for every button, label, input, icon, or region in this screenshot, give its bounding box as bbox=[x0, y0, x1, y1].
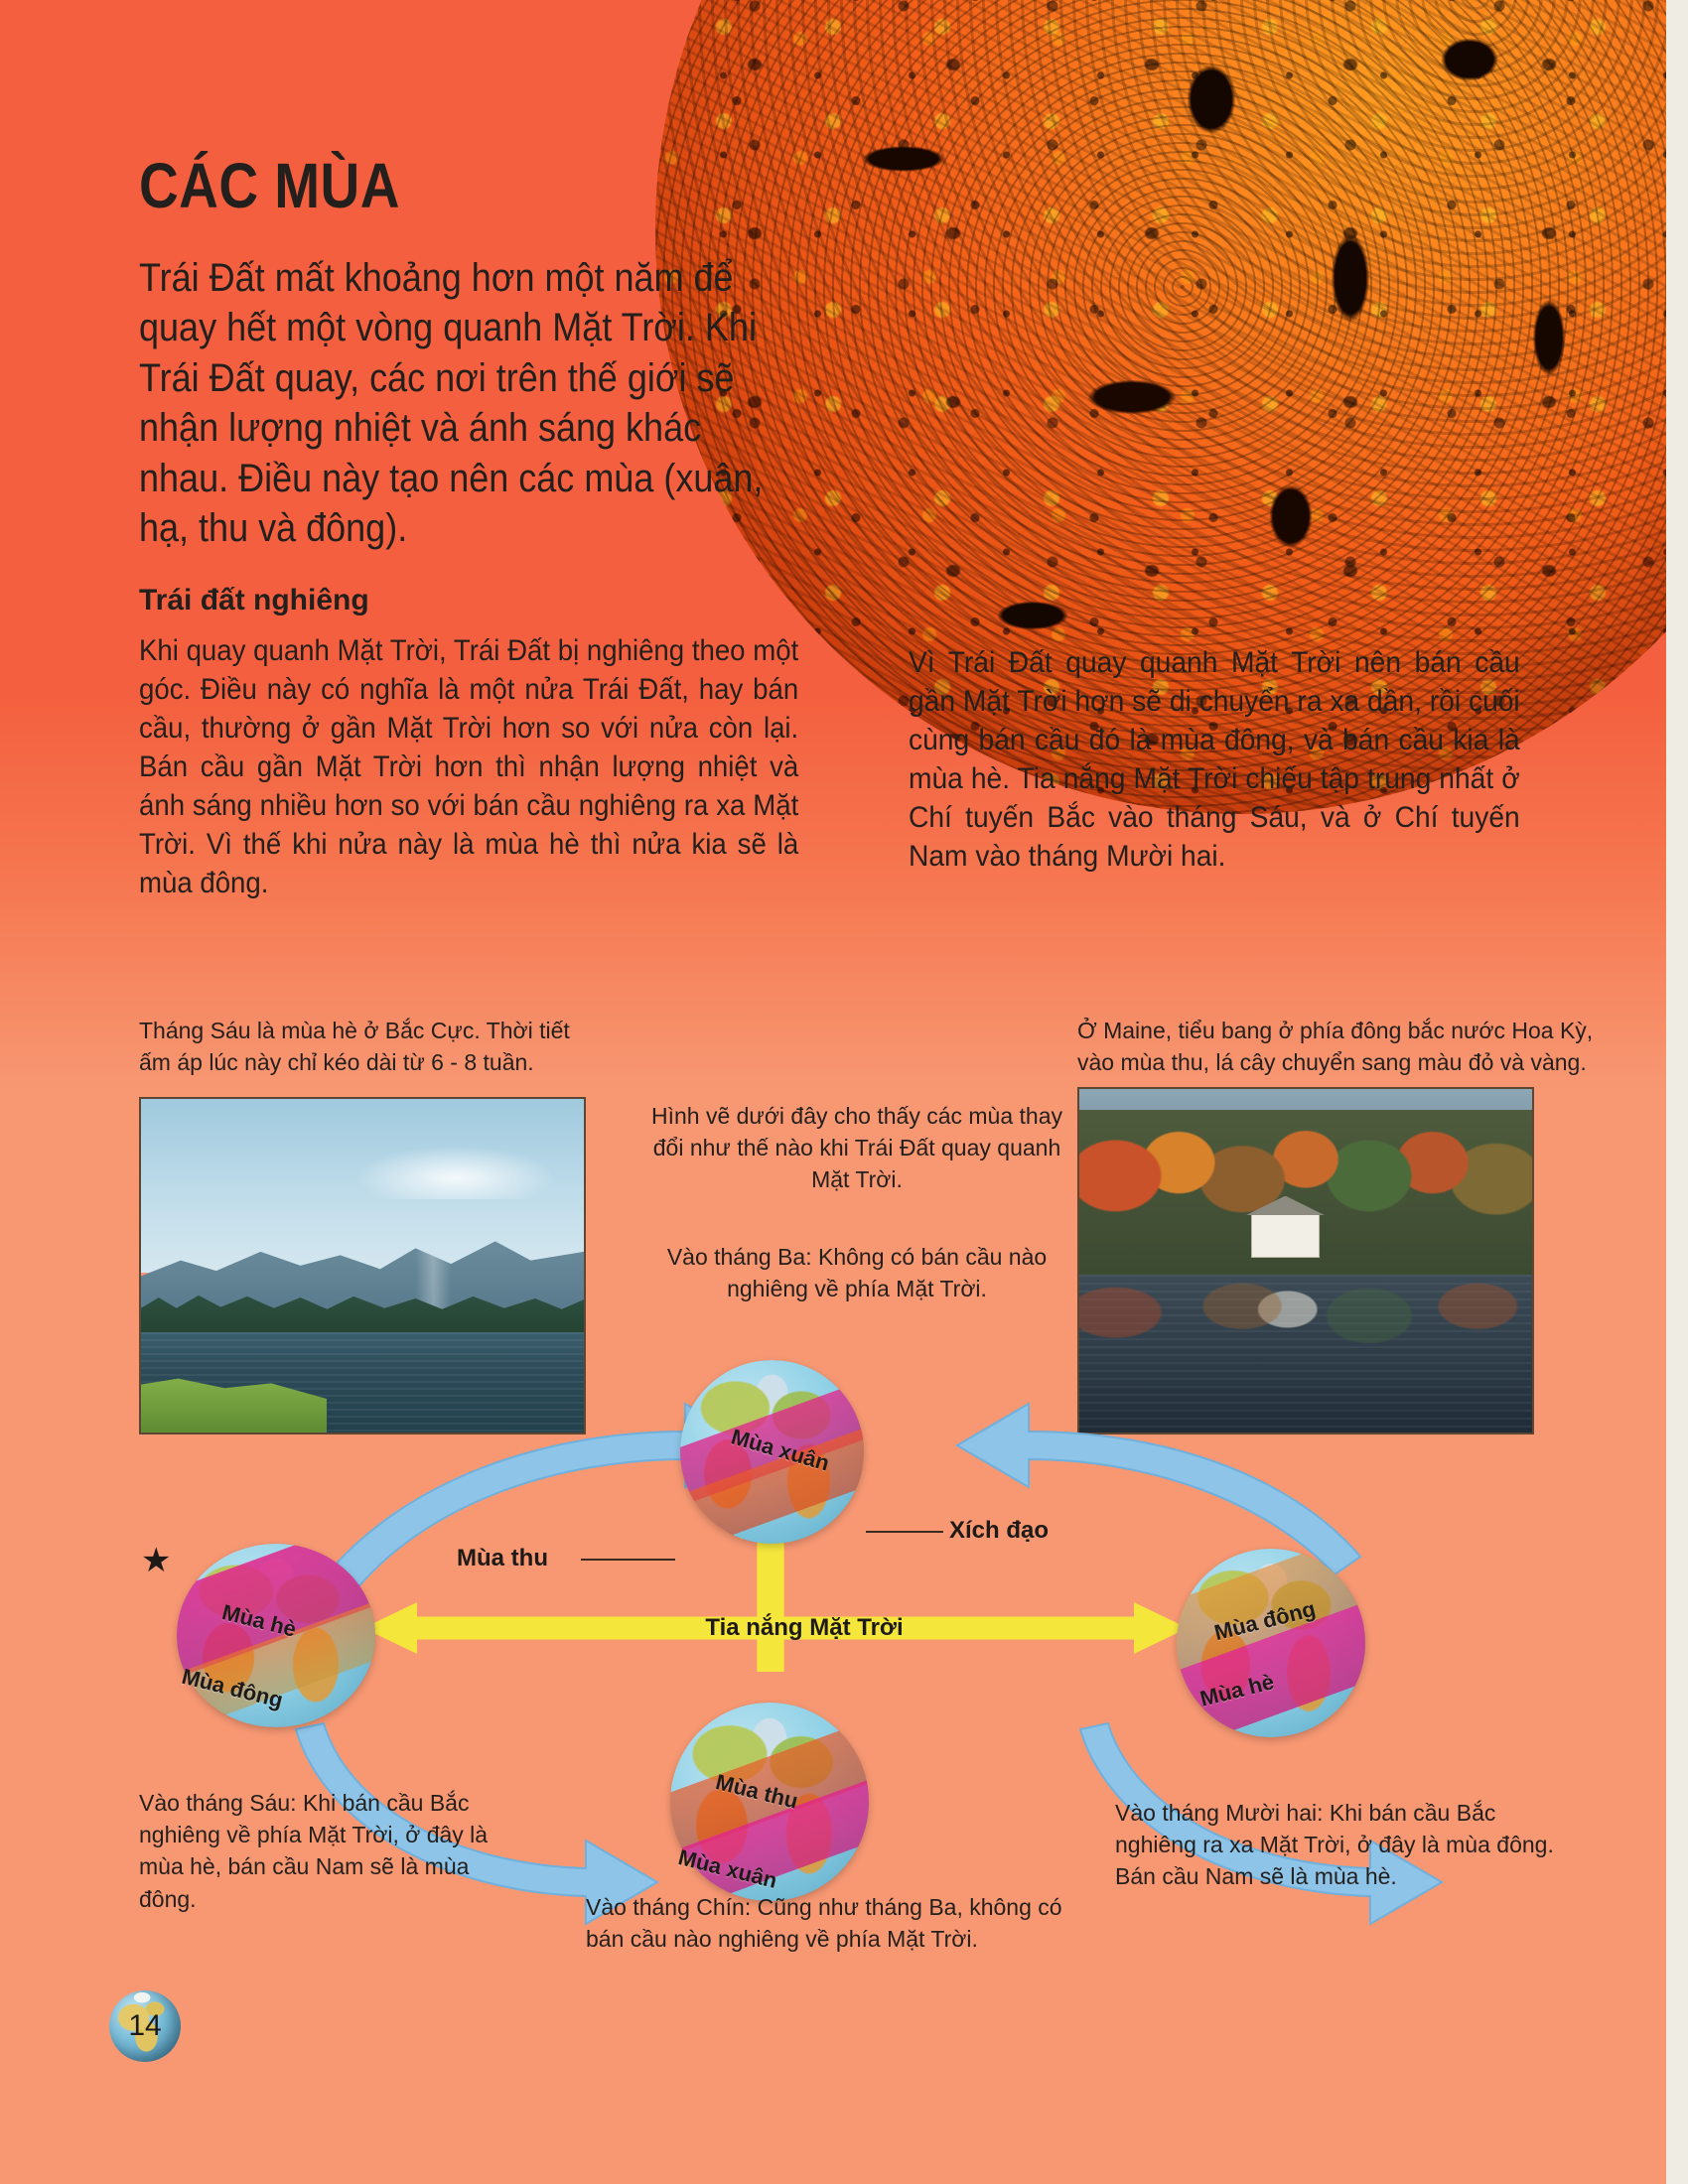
page-right-margin bbox=[1666, 0, 1688, 2184]
star-icon: ★ bbox=[141, 1544, 171, 1577]
photo-cloud bbox=[353, 1146, 557, 1199]
autumn-leader-label: Mùa thu bbox=[457, 1545, 548, 1572]
body-column-left: Khi quay quanh Mặt Trời, Trái Đất bị ngh… bbox=[139, 631, 798, 902]
autumn-leader-line bbox=[581, 1559, 675, 1561]
caption-september: Vào tháng Chín: Cũng như tháng Ba, không… bbox=[586, 1891, 1062, 1955]
caption-june: Vào tháng Sáu: Khi bán cầu Bắc nghiêng v… bbox=[139, 1787, 496, 1915]
equator-leader-line bbox=[866, 1531, 943, 1533]
page-title: CÁC MÙA bbox=[139, 149, 400, 222]
intro-paragraph: Trái Đất mất khoảng hơn một năm để quay … bbox=[139, 253, 782, 553]
page-number: 14 bbox=[128, 2009, 161, 2043]
caption-arctic-photo: Tháng Sáu là mùa hè ở Bắc Cực. Thời tiết… bbox=[139, 1015, 606, 1078]
caption-december: Vào tháng Mười hai: Khi bán cầu Bắc nghi… bbox=[1115, 1797, 1572, 1893]
caption-maine-photo: Ở Maine, tiểu bang ở phía đông bắc nước … bbox=[1077, 1015, 1594, 1078]
caption-diagram-intro: Hình vẽ dưới đây cho thấy các mùa thay đ… bbox=[643, 1100, 1070, 1196]
body-column-right: Vì Trái Đất quay quanh Mặt Trời nên bán … bbox=[909, 643, 1520, 876]
section-heading: Trái đất nghiêng bbox=[139, 584, 369, 617]
sun-ray-label: Tia nắng Mặt Trời bbox=[655, 1614, 953, 1642]
equator-label: Xích đạo bbox=[949, 1517, 1049, 1545]
caption-march: Vào tháng Ba: Không có bán cầu nào nghiê… bbox=[643, 1241, 1070, 1304]
page-number-globe: 14 bbox=[109, 1990, 181, 2062]
photo-house bbox=[1251, 1213, 1319, 1258]
